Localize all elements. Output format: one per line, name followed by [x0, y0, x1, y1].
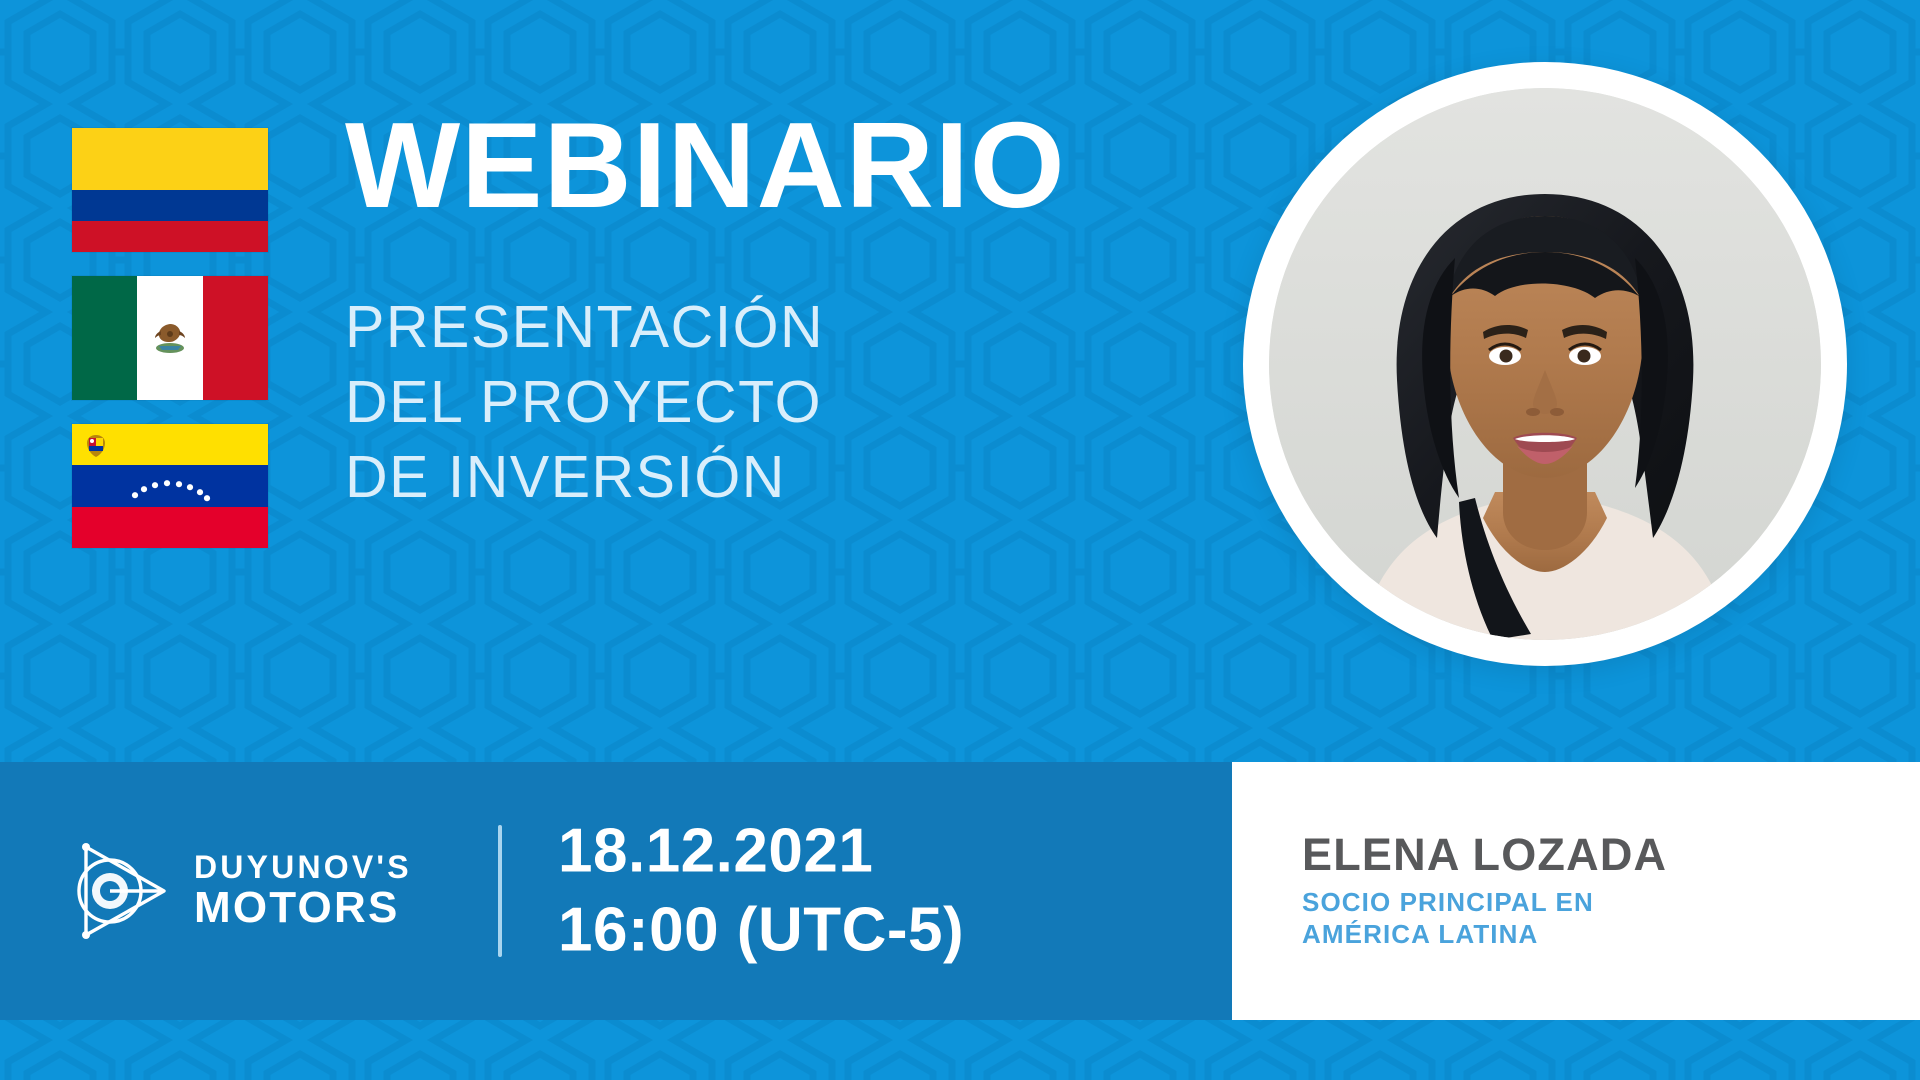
webinar-banner: WEBINARIO PRESENTACIÓN DEL PROYECTO DE I… — [0, 0, 1920, 1080]
event-date: 18.12.2021 — [558, 812, 964, 891]
colombia-flag — [72, 128, 268, 252]
speaker-portrait — [1269, 88, 1821, 640]
footer-bar: DUYUNOV'S MOTORS 18.12.2021 16:00 (UTC-5… — [0, 762, 1920, 1020]
speaker-name: ELENA LOZADA — [1302, 831, 1667, 878]
page-title: WEBINARIO — [345, 104, 1066, 226]
headline-block: WEBINARIO PRESENTACIÓN DEL PROYECTO DE I… — [345, 104, 1066, 515]
speaker-card: ELENA LOZADA SOCIO PRINCIPAL EN AMÉRICA … — [1232, 762, 1920, 1020]
brand-line-1: DUYUNOV'S — [194, 851, 412, 884]
footer-left-panel: DUYUNOV'S MOTORS 18.12.2021 16:00 (UTC-5… — [0, 762, 1232, 1020]
avatar — [1243, 62, 1847, 666]
speaker-role-line-2: AMÉRICA LATINA — [1302, 919, 1667, 951]
venezuela-red-band — [72, 507, 268, 548]
colombia-red-band — [72, 221, 268, 252]
venezuela-coat-of-arms-icon — [83, 433, 109, 459]
subtitle-block: PRESENTACIÓN DEL PROYECTO DE INVERSIÓN — [345, 290, 1066, 515]
venezuela-star-arc — [72, 465, 268, 506]
mexico-green-band — [72, 276, 137, 400]
mexico-flag — [72, 276, 268, 400]
mexico-red-band — [203, 276, 268, 400]
event-time: 16:00 (UTC-5) — [558, 891, 964, 970]
brand-line-2: MOTORS — [194, 885, 412, 931]
subtitle-line-3: DE INVERSIÓN — [345, 440, 1066, 515]
subtitle-line-1: PRESENTACIÓN — [345, 290, 1066, 365]
speaker-role-line-1: SOCIO PRINCIPAL EN — [1302, 887, 1667, 919]
colombia-blue-band — [72, 190, 268, 221]
speaker-role: SOCIO PRINCIPAL EN AMÉRICA LATINA — [1302, 887, 1667, 950]
duyunov-motors-logo-icon — [68, 839, 172, 943]
brand-wordmark: DUYUNOV'S MOTORS — [194, 851, 412, 930]
brand-logo[interactable]: DUYUNOV'S MOTORS — [68, 839, 412, 943]
speaker-info: ELENA LOZADA SOCIO PRINCIPAL EN AMÉRICA … — [1302, 831, 1667, 951]
mexico-eagle-emblem-icon — [147, 315, 193, 361]
subtitle-line-2: DEL PROYECTO — [345, 365, 1066, 440]
vertical-divider — [498, 825, 502, 957]
venezuela-flag — [72, 424, 268, 548]
flag-list — [72, 128, 268, 548]
colombia-yellow-band — [72, 128, 268, 190]
event-datetime: 18.12.2021 16:00 (UTC-5) — [558, 812, 964, 971]
hero-section: WEBINARIO PRESENTACIÓN DEL PROYECTO DE I… — [0, 0, 1920, 762]
